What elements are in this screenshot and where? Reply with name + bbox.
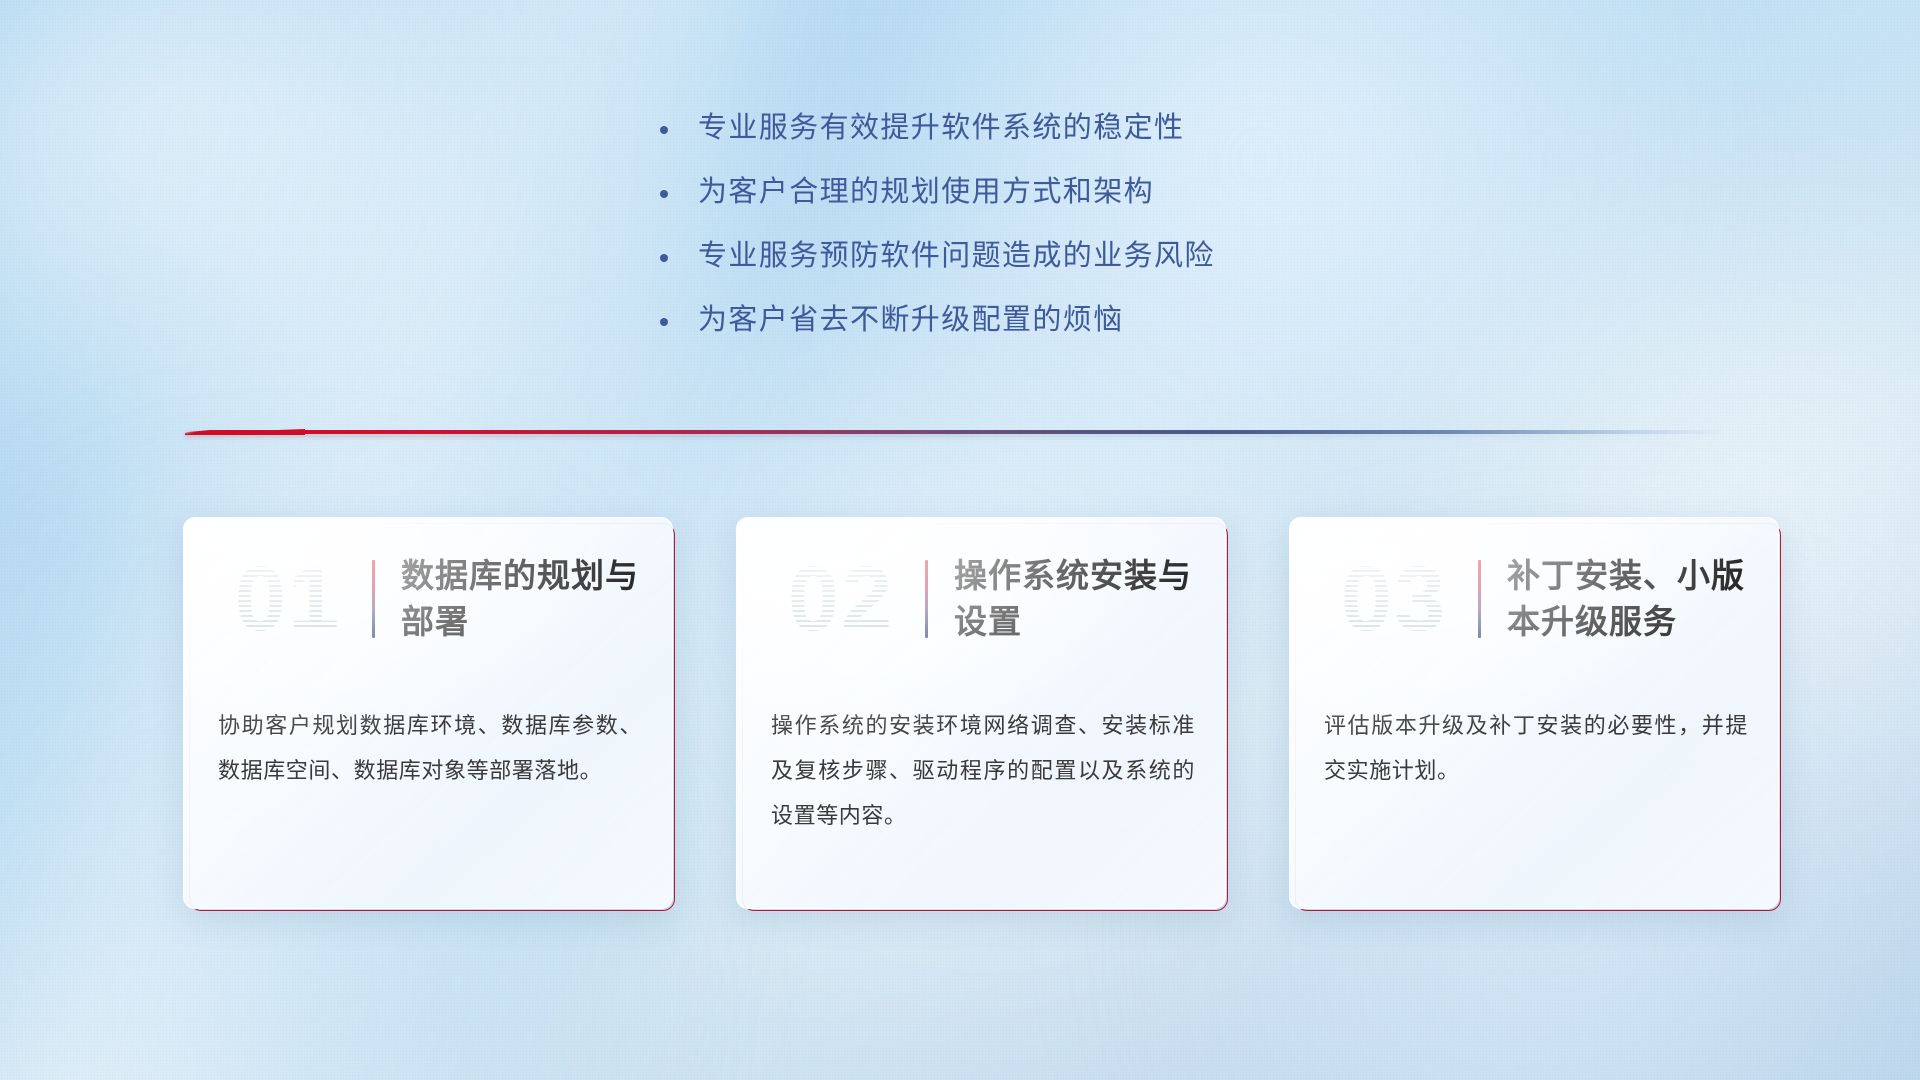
list-item: 专业服务预防软件问题造成的业务风险 xyxy=(660,236,1420,300)
card-number-watermark: 01 xyxy=(212,540,364,658)
card-title: 数据库的规划与部署 xyxy=(401,553,672,645)
card-accent-bar xyxy=(1478,560,1481,638)
card-surface: 02 操作系统安装与设置 操作系统的安装环境网络调查、安装标准及复核步骤、驱动程… xyxy=(736,517,1226,909)
card-description: 评估版本升级及补丁安装的必要性，并提交实施计划。 xyxy=(1324,703,1748,793)
card-number-watermark: 02 xyxy=(765,540,917,658)
bullet-dot-icon xyxy=(660,190,668,198)
service-card-03[interactable]: 03 补丁安装、小版本升级服务 评估版本升级及补丁安装的必要性，并提交实施计划。 xyxy=(1289,517,1779,909)
benefits-bullet-list: 专业服务有效提升软件系统的稳定性 为客户合理的规划使用方式和架构 专业服务预防软… xyxy=(660,108,1420,364)
card-accent-bar xyxy=(372,560,375,638)
card-surface: 03 补丁安装、小版本升级服务 评估版本升级及补丁安装的必要性，并提交实施计划。 xyxy=(1289,517,1779,909)
section-divider xyxy=(185,428,1725,437)
bullet-text: 为客户合理的规划使用方式和架构 xyxy=(698,172,1154,212)
bullet-dot-icon xyxy=(660,318,668,326)
card-header: 03 补丁安装、小版本升级服务 xyxy=(1290,540,1778,658)
bullet-text: 为客户省去不断升级配置的烦恼 xyxy=(698,300,1124,340)
bullet-text: 专业服务有效提升软件系统的稳定性 xyxy=(698,108,1184,148)
list-item: 为客户省去不断升级配置的烦恼 xyxy=(660,300,1420,364)
card-description: 操作系统的安装环境网络调查、安装标准及复核步骤、驱动程序的配置以及系统的设置等内… xyxy=(771,703,1195,838)
service-card-01[interactable]: 01 数据库的规划与部署 协助客户规划数据库环境、数据库参数、数据库空间、数据库… xyxy=(183,517,673,909)
bullet-dot-icon xyxy=(660,254,668,262)
card-number-watermark: 03 xyxy=(1318,540,1470,658)
service-card-02[interactable]: 02 操作系统安装与设置 操作系统的安装环境网络调查、安装标准及复核步骤、驱动程… xyxy=(736,517,1226,909)
card-accent-bar xyxy=(925,560,928,638)
card-title: 操作系统安装与设置 xyxy=(954,553,1225,645)
card-description: 协助客户规划数据库环境、数据库参数、数据库空间、数据库对象等部署落地。 xyxy=(218,703,642,793)
card-title: 补丁安装、小版本升级服务 xyxy=(1507,553,1778,645)
bullet-text: 专业服务预防软件问题造成的业务风险 xyxy=(698,236,1215,276)
card-header: 02 操作系统安装与设置 xyxy=(737,540,1225,658)
divider-shadow xyxy=(185,433,1725,437)
card-header: 01 数据库的规划与部署 xyxy=(184,540,672,658)
card-surface: 01 数据库的规划与部署 协助客户规划数据库环境、数据库参数、数据库空间、数据库… xyxy=(183,517,673,909)
bullet-dot-icon xyxy=(660,126,668,134)
list-item: 为客户合理的规划使用方式和架构 xyxy=(660,172,1420,236)
list-item: 专业服务有效提升软件系统的稳定性 xyxy=(660,108,1420,172)
service-card-grid: 01 数据库的规划与部署 协助客户规划数据库环境、数据库参数、数据库空间、数据库… xyxy=(183,517,1779,909)
